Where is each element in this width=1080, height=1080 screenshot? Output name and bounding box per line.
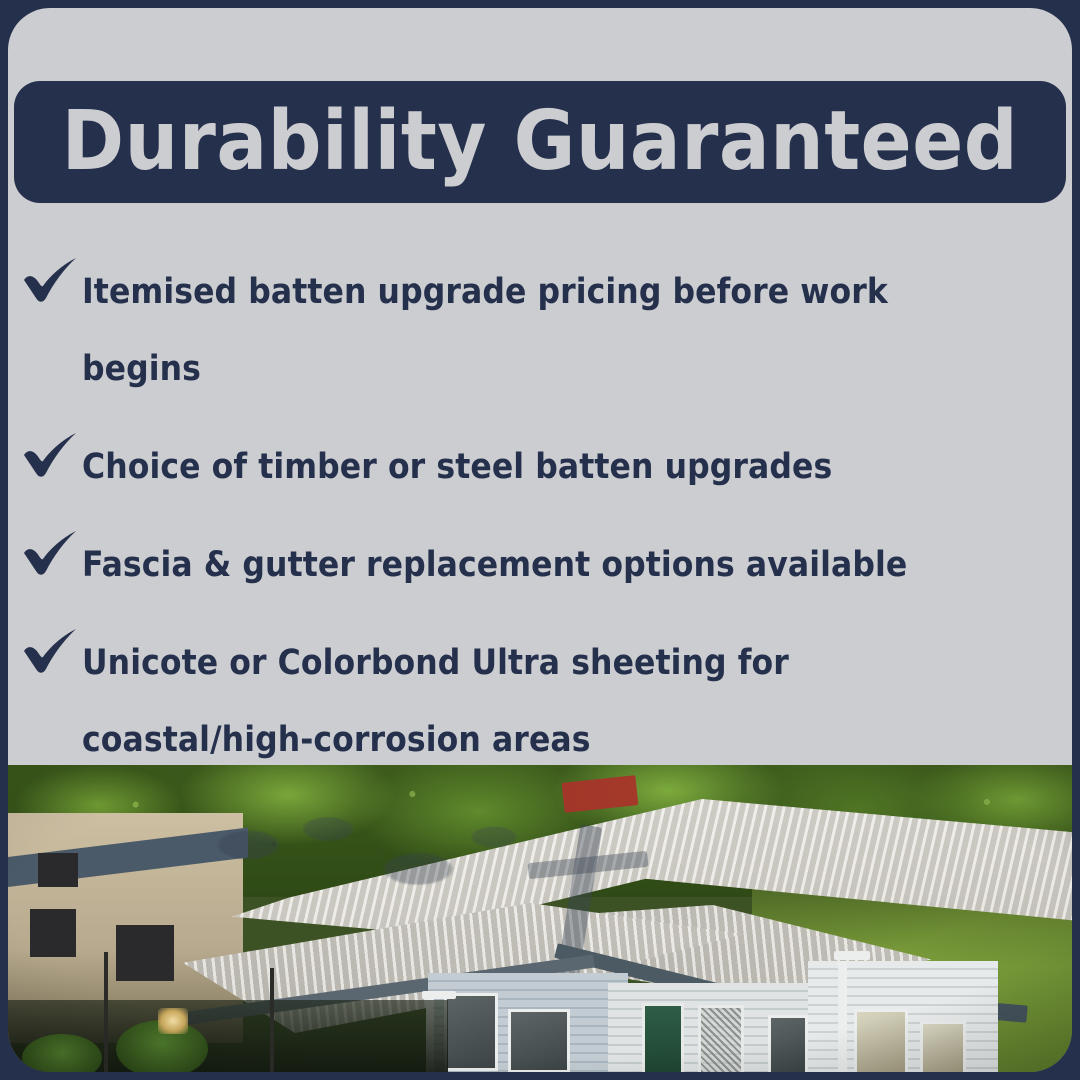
list-item-label: Itemised batten upgrade pricing before w… xyxy=(82,254,982,408)
window xyxy=(920,1021,966,1072)
list-item-label: Unicote or Colorbond Ultra sheeting for … xyxy=(82,625,982,779)
fence-post xyxy=(270,968,274,1072)
check-icon xyxy=(20,529,82,577)
gutter-spout xyxy=(834,951,870,960)
window xyxy=(768,1015,808,1072)
check-icon xyxy=(20,431,82,479)
list-item-label: Fascia & gutter replacement options avai… xyxy=(82,527,907,604)
content-panel: Durability Guaranteed Itemised batten up… xyxy=(8,8,1072,1072)
list-item-label: Choice of timber or steel batten upgrade… xyxy=(82,429,832,506)
neighbour-window xyxy=(30,909,76,957)
roof-photo xyxy=(8,765,1072,1072)
downpipe xyxy=(838,961,847,1072)
photo-scene xyxy=(8,765,1072,1072)
leaf-shadows xyxy=(208,815,538,935)
veranda-light xyxy=(158,1008,188,1034)
check-icon xyxy=(20,627,82,675)
gutter-spout xyxy=(422,991,456,999)
poster-root: Durability Guaranteed Itemised batten up… xyxy=(0,0,1080,1080)
fence-post xyxy=(104,952,108,1072)
neighbour-window xyxy=(38,853,78,887)
window xyxy=(854,1009,908,1072)
window xyxy=(508,1009,570,1072)
check-icon xyxy=(20,256,82,304)
green-door xyxy=(642,1003,684,1072)
list-item: Choice of timber or steel batten upgrade… xyxy=(8,429,1072,506)
window xyxy=(444,993,498,1071)
list-item: Itemised batten upgrade pricing before w… xyxy=(8,254,1072,408)
list-item: Fascia & gutter replacement options avai… xyxy=(8,527,1072,604)
screen-door xyxy=(698,1005,744,1072)
title-banner: Durability Guaranteed xyxy=(14,81,1066,203)
neighbour-window xyxy=(116,925,174,981)
list-item: Unicote or Colorbond Ultra sheeting for … xyxy=(8,625,1072,779)
page-title: Durability Guaranteed xyxy=(62,101,1019,183)
